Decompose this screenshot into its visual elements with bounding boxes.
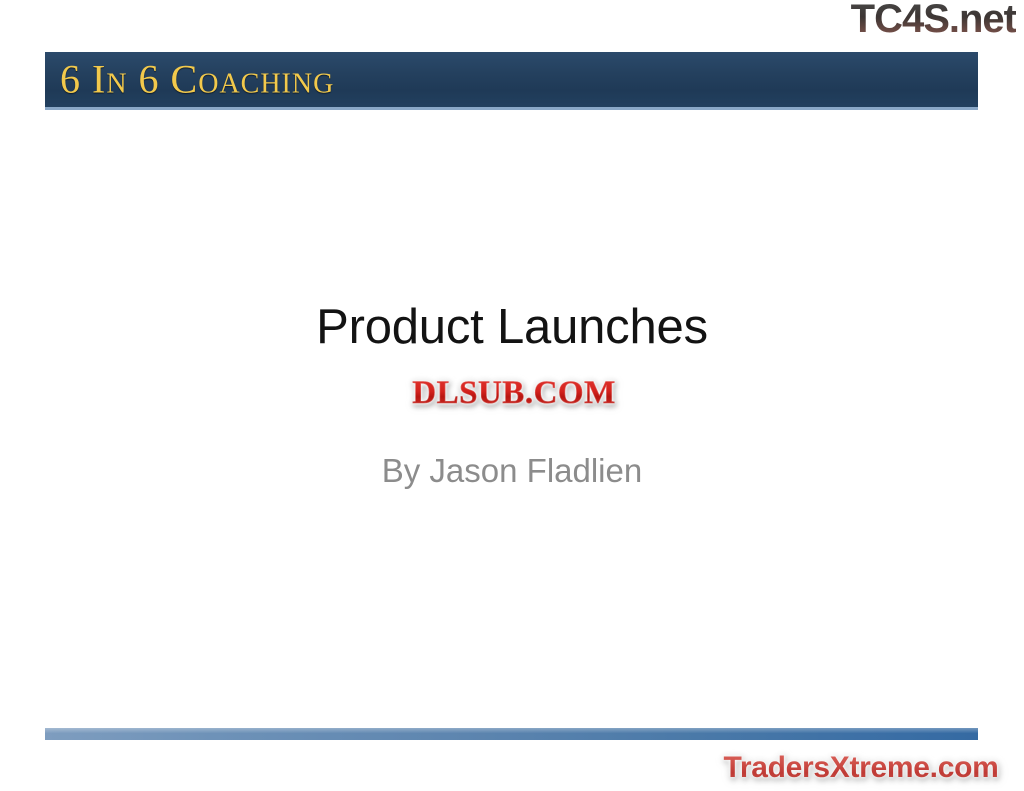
title-block: Product Launches [112, 300, 912, 355]
header-banner: 6 In 6 Coaching [45, 52, 978, 110]
slide-title: Product Launches [112, 300, 912, 355]
watermark-dlsub: DLSUB.COM [367, 374, 661, 412]
watermark-tradersxtreme: TradersXtreme.com [706, 748, 1016, 788]
footer-decorative-bar [45, 727, 978, 741]
watermark-tc4s: TC4S.net [851, 0, 1016, 40]
slide-subtitle: By Jason Fladlien [112, 452, 912, 490]
watermark-dlsub-text: DLSUB.COM [367, 374, 661, 412]
header-banner-title: 6 In 6 Coaching [60, 55, 334, 102]
slide-canvas: TC4S.net 6 In 6 Coaching Product Launche… [0, 0, 1024, 791]
watermark-tradersxtreme-text: TradersXtreme.com [706, 748, 1016, 788]
